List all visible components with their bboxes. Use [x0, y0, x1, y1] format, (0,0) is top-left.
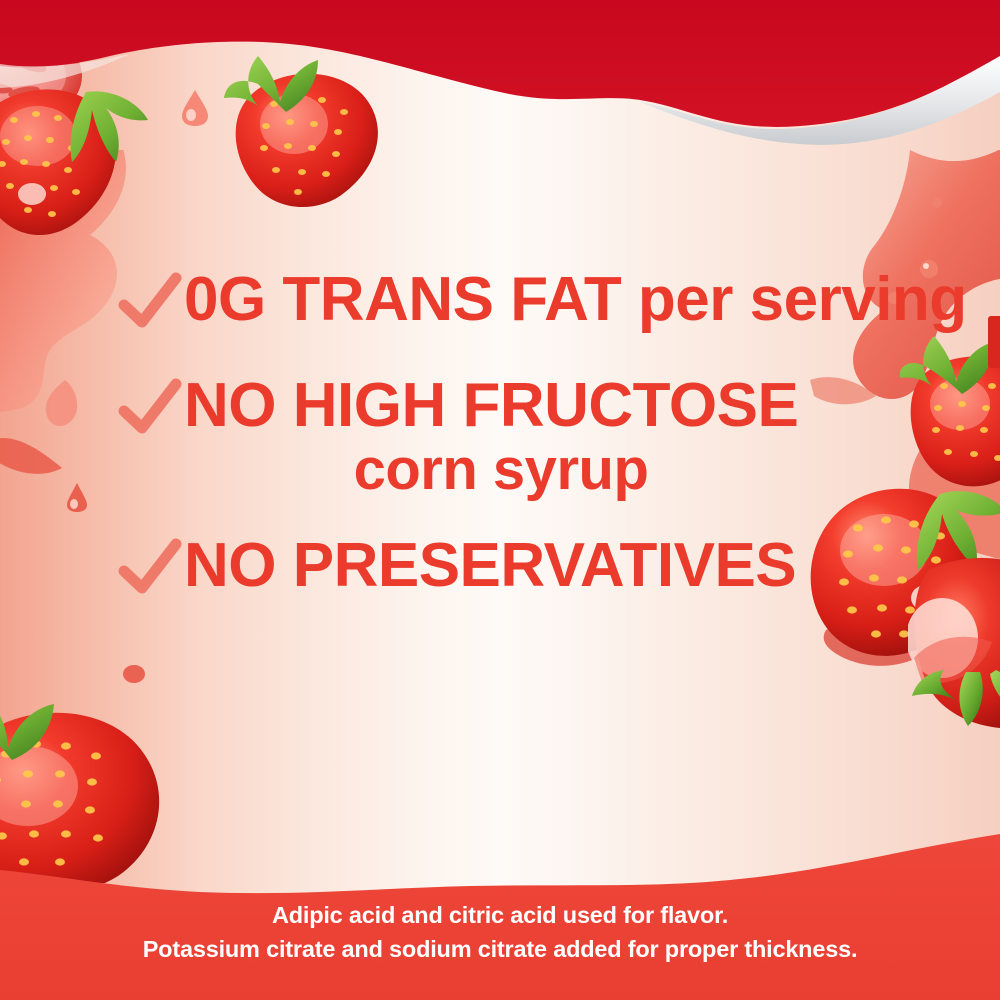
claim-text: NO HIGH FRUCTOSE corn syrup — [184, 374, 824, 498]
claim-item: 0G TRANS FAT per serving — [118, 268, 908, 332]
claim-strong: NO PRESERVATIVES — [184, 531, 796, 600]
check-icon — [118, 378, 182, 438]
juice-droplet-right-c — [930, 196, 944, 210]
claim-strong: 0G TRANS FAT — [184, 265, 621, 334]
strawberry-top-mid — [222, 38, 402, 213]
claim-item: NO PRESERVATIVES — [118, 534, 908, 598]
promo-panel: 0G TRANS FAT per serving NO HIGH FRUCTOS… — [0, 0, 1000, 1000]
juice-droplet-bottom-left — [122, 664, 146, 684]
claim-item: NO HIGH FRUCTOSE corn syrup — [118, 374, 908, 498]
claim-text: 0G TRANS FAT per serving — [184, 268, 967, 330]
claims-list: 0G TRANS FAT per serving NO HIGH FRUCTOS… — [118, 268, 908, 598]
footer-line-2: Potassium citrate and sodium citrate add… — [0, 933, 1000, 966]
footer-disclaimer: Adipic acid and citric acid used for fla… — [0, 899, 1000, 966]
top-red-banner — [0, 0, 1000, 160]
claim-light: per serving — [621, 265, 966, 334]
strawberry-bottom-left — [0, 668, 200, 883]
strawberry-slice-top-left — [0, 18, 98, 138]
footer-line-1: Adipic acid and citric acid used for fla… — [0, 899, 1000, 932]
check-icon — [118, 538, 182, 598]
claim-text: NO PRESERVATIVES — [184, 534, 796, 596]
juice-droplet-top — [178, 86, 212, 128]
strawberry-right-upper — [900, 320, 1000, 490]
claim-strong: NO HIGH FRUCTOSE — [184, 371, 798, 440]
red-edge-tab — [988, 316, 1000, 368]
juice-droplet-mid-left — [64, 480, 90, 514]
strawberry-right-lower — [908, 540, 1000, 740]
check-icon — [118, 272, 182, 332]
claim-line2: corn syrup — [178, 442, 824, 498]
strawberry-top-left — [0, 58, 171, 248]
